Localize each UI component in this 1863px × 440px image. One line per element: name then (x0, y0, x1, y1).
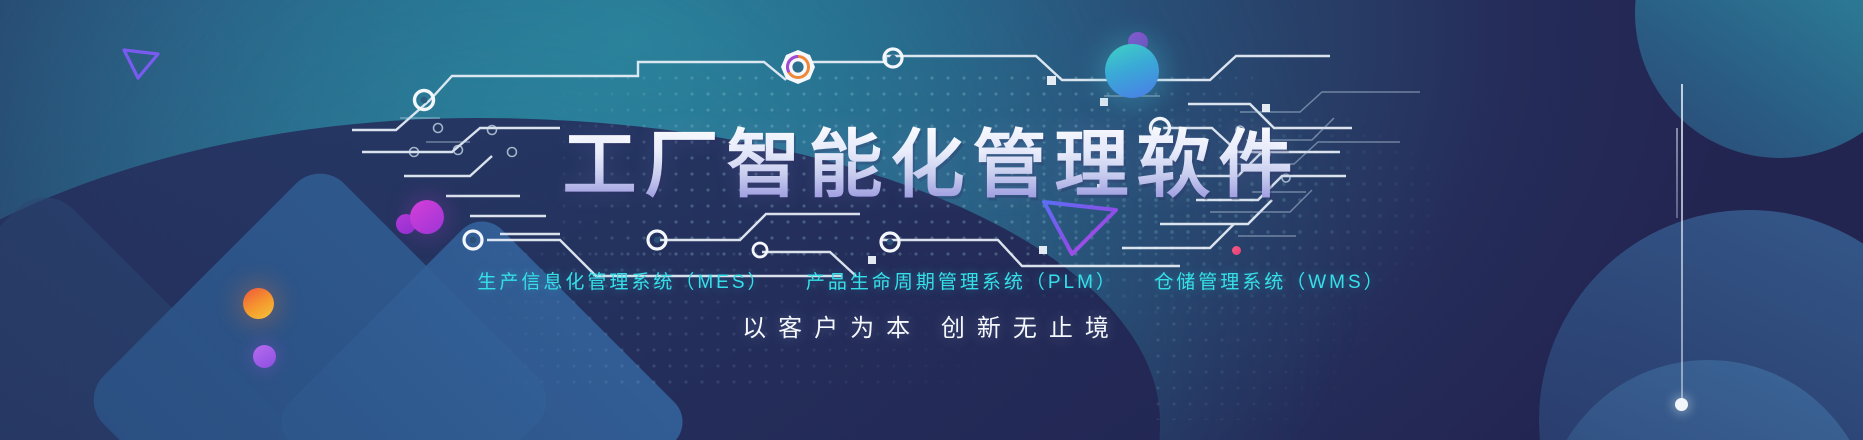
hero-banner: 工厂智能化管理软件 生产信息化管理系统（MES） 产品生命周期管理系统（PLM）… (0, 0, 1863, 440)
banner-tagline: 以客户为本 创新无止境 (0, 312, 1863, 346)
subtitle-segment-mes: 生产信息化管理系统（MES） (477, 270, 769, 296)
banner-title: 工厂智能化管理软件 (0, 126, 1863, 204)
subtitle-segment-plm: 产品生命周期管理系统（PLM） (806, 270, 1118, 296)
banner-content: 工厂智能化管理软件 生产信息化管理系统（MES） 产品生命周期管理系统（PLM）… (0, 0, 1863, 440)
subtitle-segment-wms: 仓储管理系统（WMS） (1154, 270, 1385, 296)
banner-subtitle-list: 生产信息化管理系统（MES） 产品生命周期管理系统（PLM） 仓储管理系统（WM… (0, 270, 1863, 296)
